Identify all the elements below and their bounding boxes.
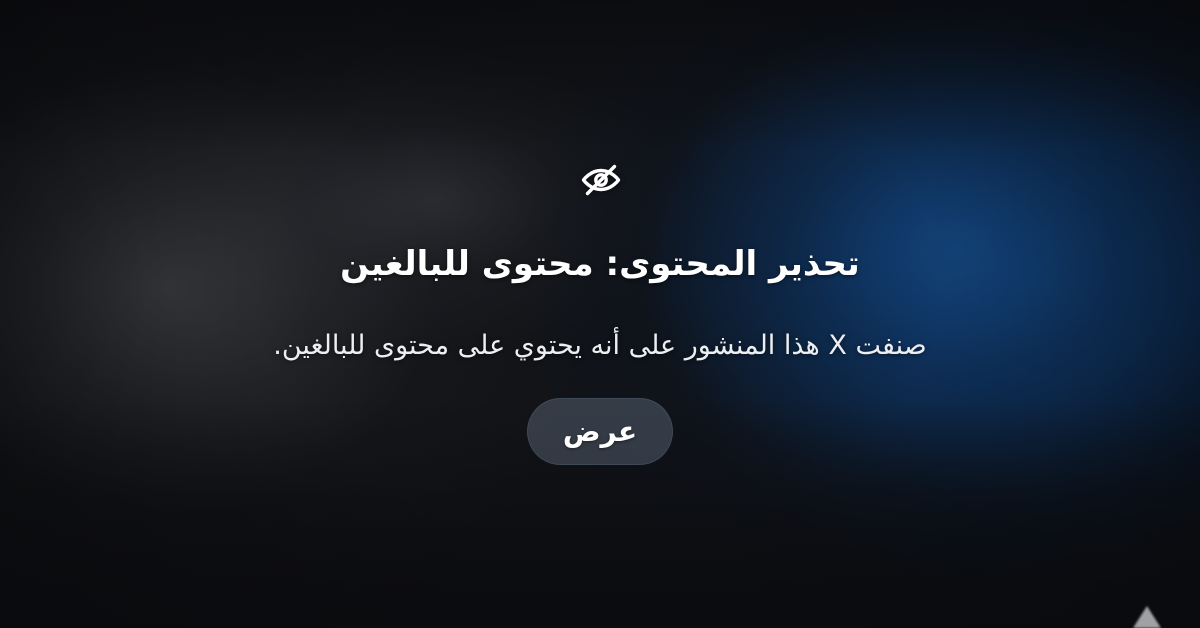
- warning-description: صنفت X هذا المنشور على أنه يحتوي على محت…: [160, 328, 1040, 364]
- warning-content: تحذير المحتوى: محتوى للبالغين صنفت X هذا…: [0, 0, 1200, 628]
- action-row: عرض: [0, 398, 1200, 465]
- view-button[interactable]: عرض: [527, 398, 673, 465]
- eye-off-icon: [578, 158, 624, 202]
- page-title: تحذير المحتوى: محتوى للبالغين: [200, 243, 1000, 286]
- content-warning-overlay: تحذير المحتوى: محتوى للبالغين صنفت X هذا…: [0, 0, 1200, 628]
